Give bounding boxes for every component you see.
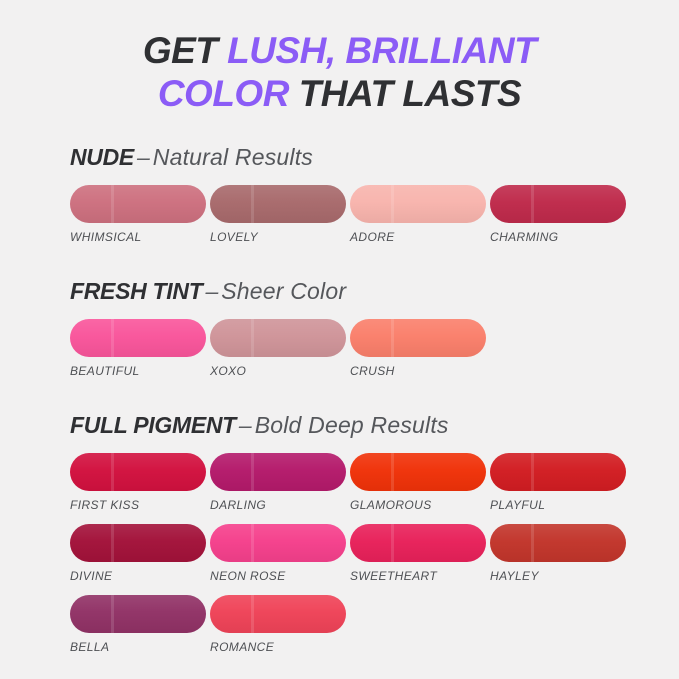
swatch-color-adore[interactable]	[350, 185, 486, 223]
headline-line-2: COLOR THAT LASTS	[0, 73, 679, 116]
headline-text-get: GET	[143, 30, 227, 71]
swatch-label: DARLING	[210, 498, 346, 512]
swatch-item[interactable]: HAYLEY	[490, 524, 626, 583]
swatch-label: BEAUTIFUL	[70, 364, 206, 378]
swatch-color-first-kiss[interactable]	[70, 453, 206, 491]
swatch-item[interactable]: LOVELY	[210, 185, 346, 244]
swatch-label: PLAYFUL	[490, 498, 626, 512]
headline-accent-lush-brilliant: LUSH, BRILLIANT	[227, 30, 536, 71]
swatch-item[interactable]: ROMANCE	[210, 595, 346, 654]
section-fresh-tint: FRESH TINT–Sheer Color BEAUTIFUL XOXO CR…	[70, 278, 679, 390]
headline-text-that-lasts: THAT LASTS	[289, 73, 521, 114]
swatch-item[interactable]: CHARMING	[490, 185, 626, 244]
section-nude: NUDE–Natural Results WHIMSICAL LOVELY AD…	[70, 144, 679, 256]
swatch-color-lovely[interactable]	[210, 185, 346, 223]
swatch-label: SWEETHEART	[350, 569, 486, 583]
swatch-label: GLAMOROUS	[350, 498, 486, 512]
swatch-color-darling[interactable]	[210, 453, 346, 491]
swatch-item[interactable]: FIRST KISS	[70, 453, 206, 512]
swatch-color-hayley[interactable]	[490, 524, 626, 562]
page-headline: GET LUSH, BRILLIANT COLOR THAT LASTS	[0, 0, 679, 116]
swatch-color-playful[interactable]	[490, 453, 626, 491]
swatch-item[interactable]: WHIMSICAL	[70, 185, 206, 244]
swatch-label: ROMANCE	[210, 640, 346, 654]
swatch-color-neon-rose[interactable]	[210, 524, 346, 562]
section-title-full-pigment: FULL PIGMENT	[70, 412, 236, 438]
swatch-item[interactable]: PLAYFUL	[490, 453, 626, 512]
swatch-label: FIRST KISS	[70, 498, 206, 512]
swatch-label: CRUSH	[350, 364, 486, 378]
swatch-row-full-pigment: FIRST KISS DARLING GLAMOROUS PLAYFUL DIV…	[70, 453, 679, 666]
swatch-item[interactable]: DIVINE	[70, 524, 206, 583]
swatch-label: NEON ROSE	[210, 569, 346, 583]
swatch-label: CHARMING	[490, 230, 626, 244]
swatch-item[interactable]: BEAUTIFUL	[70, 319, 206, 378]
section-subtitle-nude: Natural Results	[153, 144, 313, 170]
section-header-full-pigment: FULL PIGMENT–Bold Deep Results	[70, 412, 679, 439]
section-dash-fresh-tint: –	[205, 278, 218, 304]
swatch-item[interactable]: DARLING	[210, 453, 346, 512]
section-subtitle-fresh-tint: Sheer Color	[221, 278, 346, 304]
swatch-color-crush[interactable]	[350, 319, 486, 357]
swatch-item[interactable]: XOXO	[210, 319, 346, 378]
section-title-fresh-tint: FRESH TINT	[70, 278, 202, 304]
headline-accent-color: COLOR	[158, 73, 289, 114]
swatch-label: XOXO	[210, 364, 346, 378]
section-subtitle-full-pigment: Bold Deep Results	[255, 412, 449, 438]
section-header-fresh-tint: FRESH TINT–Sheer Color	[70, 278, 679, 305]
section-dash-nude: –	[137, 144, 150, 170]
swatch-label: ADORE	[350, 230, 486, 244]
section-dash-full-pigment: –	[239, 412, 252, 438]
swatch-item[interactable]: NEON ROSE	[210, 524, 346, 583]
swatch-item[interactable]: ADORE	[350, 185, 486, 244]
swatch-color-beautiful[interactable]	[70, 319, 206, 357]
swatch-color-divine[interactable]	[70, 524, 206, 562]
section-title-nude: NUDE	[70, 144, 134, 170]
swatch-sections: NUDE–Natural Results WHIMSICAL LOVELY AD…	[0, 144, 679, 666]
section-full-pigment: FULL PIGMENT–Bold Deep Results FIRST KIS…	[70, 412, 679, 666]
swatch-label: WHIMSICAL	[70, 230, 206, 244]
swatch-item[interactable]: CRUSH	[350, 319, 486, 378]
swatch-row-nude: WHIMSICAL LOVELY ADORE CHARMING	[70, 185, 679, 256]
swatch-row-fresh-tint: BEAUTIFUL XOXO CRUSH	[70, 319, 679, 390]
swatch-color-charming[interactable]	[490, 185, 626, 223]
swatch-color-whimsical[interactable]	[70, 185, 206, 223]
swatch-color-sweetheart[interactable]	[350, 524, 486, 562]
swatch-color-glamorous[interactable]	[350, 453, 486, 491]
swatch-label: LOVELY	[210, 230, 346, 244]
section-header-nude: NUDE–Natural Results	[70, 144, 679, 171]
swatch-color-xoxo[interactable]	[210, 319, 346, 357]
swatch-item[interactable]: SWEETHEART	[350, 524, 486, 583]
headline-line-1: GET LUSH, BRILLIANT	[0, 30, 679, 73]
swatch-label: HAYLEY	[490, 569, 626, 583]
swatch-color-bella[interactable]	[70, 595, 206, 633]
swatch-label: BELLA	[70, 640, 206, 654]
swatch-item[interactable]: GLAMOROUS	[350, 453, 486, 512]
swatch-item[interactable]: BELLA	[70, 595, 206, 654]
swatch-label: DIVINE	[70, 569, 206, 583]
swatch-color-romance[interactable]	[210, 595, 346, 633]
